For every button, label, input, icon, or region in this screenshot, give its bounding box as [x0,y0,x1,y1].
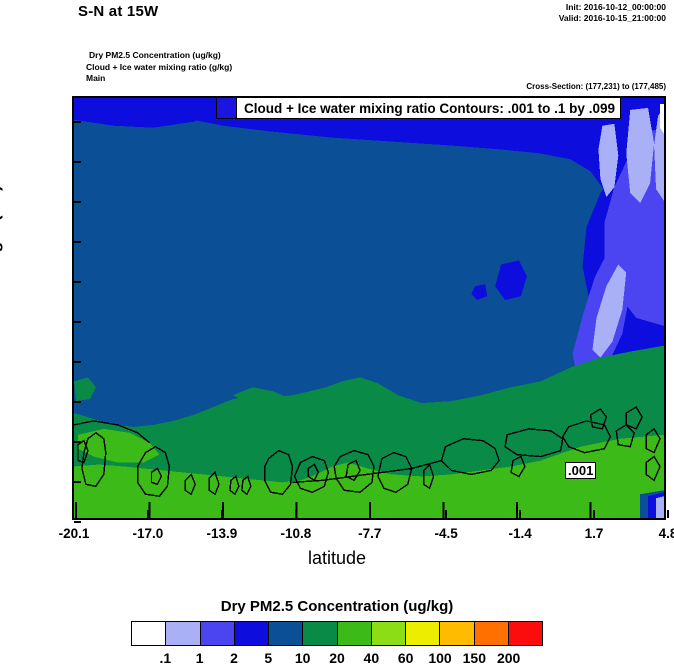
colorbar-tick-label: 150 [463,650,486,666]
contour-banner-text: Cloud + Ice water mixing ratio Contours:… [237,101,615,116]
variable-line-cloud-ice: Cloud + Ice water mixing ratio (g/kg) [86,62,232,74]
colorbar-swatch [234,621,268,646]
colorbar-swatch [268,621,302,646]
colorbar-tick-label: 10 [295,650,311,666]
colorbar-tick-labels: .112510204060100150200 [131,650,543,668]
colorbar-tick-label: .1 [159,650,171,666]
y-tick-mark [74,481,81,483]
colorbar-swatch [302,621,336,646]
run-time-block: Init: 2016-10-12_00:00:00 Valid: 2016-10… [559,2,666,24]
y-tick-mark [74,401,81,403]
cross-section-label: Cross-Section: (177,231) to (177,485) [526,82,666,91]
y-tick-mark [74,321,81,323]
y-tick-mark [74,241,81,243]
x-tick-label: -7.7 [358,526,381,541]
colorbar-tick-label: 40 [364,650,380,666]
colorbar-tick-label: 2 [230,650,238,666]
page-title: S-N at 15W [78,3,158,20]
x-tick-mark [519,510,521,518]
colorbar-swatch [474,621,508,646]
y-tick-mark [74,361,81,363]
y-tick-mark [74,201,81,203]
y-tick-mark [74,281,81,283]
y-axis-title: Height (km) [0,185,4,279]
contour-banner: Cloud + Ice water mixing ratio Contours:… [216,98,621,119]
colorbar-swatch [508,621,543,646]
x-tick-mark [147,510,149,518]
x-tick-mark [369,510,371,518]
x-tick-mark [667,510,669,518]
init-time-label: Init: 2016-10-12_00:00:00 [559,2,666,13]
colorbar-swatch [337,621,371,646]
colorbar-swatch [131,621,165,646]
x-tick-label: 1.7 [585,526,604,541]
colorbar-swatches [131,621,543,646]
cross-section-plot: Cloud + Ice water mixing ratio Contours:… [72,96,666,520]
colorbar-tick-label: 5 [264,650,272,666]
colorbar-tick-label: 60 [398,650,414,666]
domain-name-label: Main [86,73,232,85]
colorbar-swatch [371,621,405,646]
y-tick-mark [74,121,81,123]
x-tick-mark [445,510,447,518]
contour-value-label: .001 [565,462,596,479]
filled-contour-field [74,98,664,518]
colorbar-tick-label: 200 [497,650,520,666]
colorbar-swatch [439,621,473,646]
region-lightblue-bottom-right [656,496,664,518]
colorbar-swatch [165,621,199,646]
colorbar-swatch [405,621,439,646]
x-tick-label: -17.0 [133,526,164,541]
variable-line-pm25: Dry PM2.5 Concentration (ug/kg) [86,50,232,62]
x-tick-label: 4.8 [659,526,674,541]
colorbar: Dry PM2.5 Concentration (ug/kg) .1125102… [0,598,674,668]
y-tick-mark [74,441,81,443]
y-tick-mark [74,161,81,163]
x-axis-title: latitude [308,548,366,569]
x-tick-label: -1.4 [508,526,531,541]
x-tick-label: -20.1 [59,526,90,541]
colorbar-title: Dry PM2.5 Concentration (ug/kg) [0,598,674,615]
variable-title-block: Dry PM2.5 Concentration (ug/kg) Cloud + … [86,50,232,85]
valid-time-label: Valid: 2016-10-15_21:00:00 [559,13,666,24]
colorbar-tick-label: 20 [329,650,345,666]
colorbar-tick-label: 1 [196,650,204,666]
x-tick-label: -13.9 [207,526,238,541]
y-tick-mark [74,521,81,523]
x-tick-mark [593,510,595,518]
colorbar-tick-label: 100 [428,650,451,666]
x-tick-mark [221,510,223,518]
x-tick-label: -4.5 [435,526,458,541]
contour-color-swatch [217,98,237,118]
x-tick-mark [295,510,297,518]
x-tick-label: -10.8 [280,526,311,541]
colorbar-swatch [200,621,234,646]
